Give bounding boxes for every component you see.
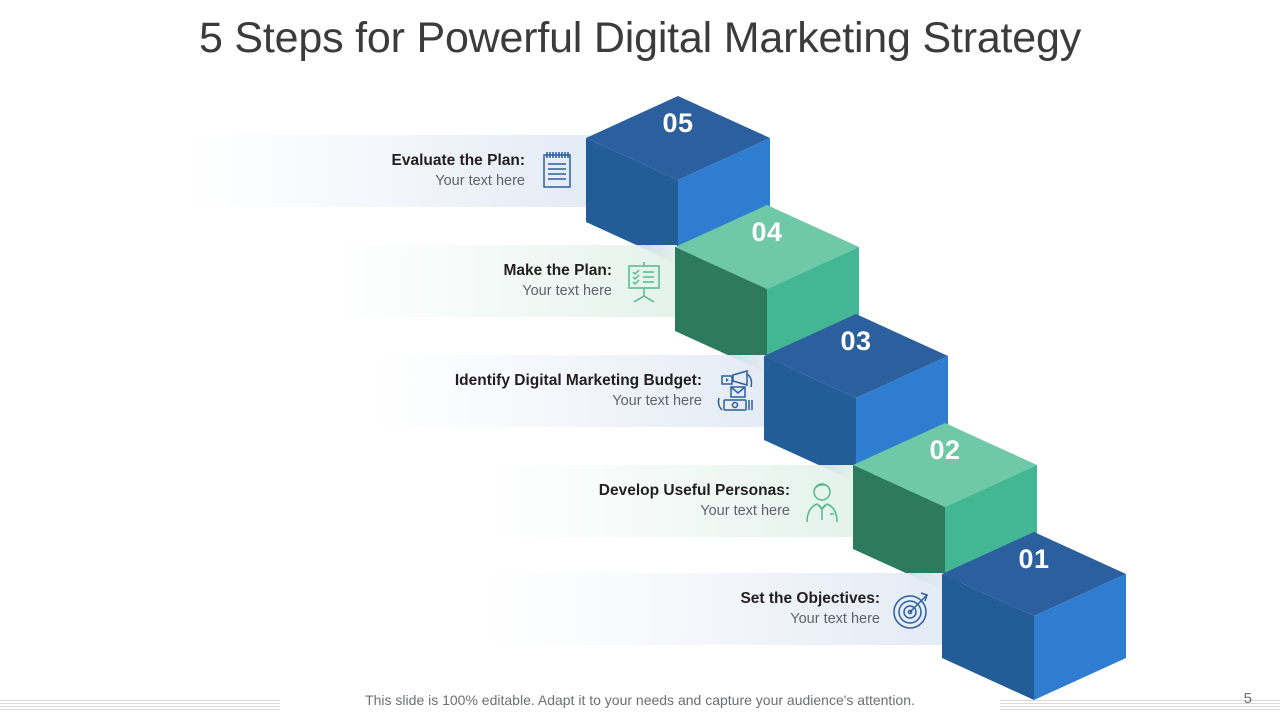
target-arrow-icon: [889, 586, 935, 632]
step-band-04[interactable]: Make the Plan: Your text here: [330, 245, 677, 317]
notepad-icon: [534, 148, 580, 194]
step-label-04: Make the Plan: Your text here: [503, 261, 621, 301]
step-title-03: Identify Digital Marketing Budget:: [455, 371, 702, 391]
step-label-05: Evaluate the Plan: Your text here: [391, 151, 534, 191]
step-band-03[interactable]: Identify Digital Marketing Budget: Your …: [372, 355, 767, 427]
step-title-02: Develop Useful Personas:: [599, 481, 790, 501]
step-band-02[interactable]: Develop Useful Personas: Your text here: [483, 465, 855, 537]
step-subtitle-03: Your text here: [455, 392, 702, 411]
step-band-01[interactable]: Set the Objectives: Your text here: [485, 573, 945, 645]
step-label-02: Develop Useful Personas: Your text here: [599, 481, 799, 521]
footer-note: This slide is 100% editable. Adapt it to…: [0, 692, 1280, 708]
marketing-budget-icon: [711, 368, 757, 414]
step-subtitle-01: Your text here: [740, 610, 880, 629]
presentation-board-icon: [621, 258, 667, 304]
page-number: 5: [1244, 690, 1252, 707]
step-label-03: Identify Digital Marketing Budget: Your …: [455, 371, 711, 411]
step-title-04: Make the Plan:: [503, 261, 612, 281]
step-band-05[interactable]: Evaluate the Plan: Your text here: [190, 135, 590, 207]
step-subtitle-04: Your text here: [503, 282, 612, 301]
steps-diagram: Evaluate the Plan: Your text here: [0, 0, 1280, 690]
step-label-01: Set the Objectives: Your text here: [740, 589, 889, 629]
step-title-05: Evaluate the Plan:: [391, 151, 525, 171]
step-subtitle-02: Your text here: [599, 502, 790, 521]
step-cube-01[interactable]: 01: [942, 532, 1126, 700]
step-subtitle-05: Your text here: [391, 172, 525, 191]
businessperson-icon: [799, 478, 845, 524]
step-title-01: Set the Objectives:: [740, 589, 880, 609]
